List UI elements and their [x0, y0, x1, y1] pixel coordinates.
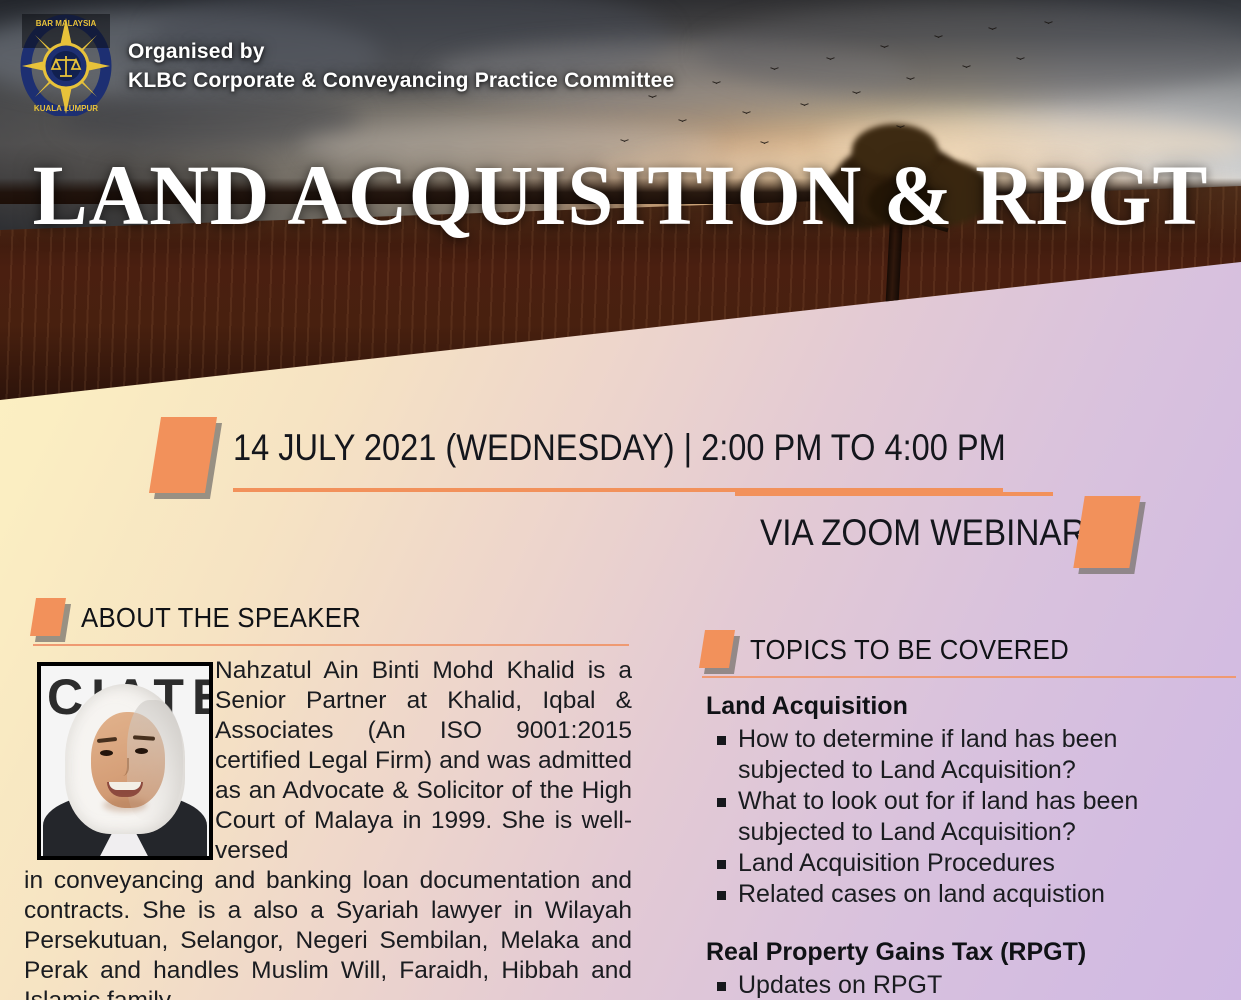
speaker-photo: CIATE: [37, 662, 213, 860]
topic-item-text: Related cases on land acquistion: [738, 880, 1105, 908]
organiser-line-1: Organised by: [128, 38, 674, 67]
list-item: Updates on RPGT: [706, 970, 1206, 1000]
bullet-icon: [717, 798, 726, 807]
event-platform-row: VIA ZOOM WEBINAR: [735, 492, 1155, 592]
topic-group: Land Acquisition How to determine if lan…: [706, 690, 1206, 910]
list-item: What to look out for if land has been su…: [706, 786, 1206, 848]
poster-root: BAR MALAYSIA KUALA LUMPUR Organised by K…: [0, 0, 1241, 1000]
topic-items: Updates on RPGT: [706, 970, 1206, 1000]
bullet-icon: [717, 982, 726, 991]
topics-heading-rule: [702, 676, 1236, 678]
speaker-heading: ABOUT THE SPEAKER: [81, 602, 361, 634]
list-item: Related cases on land acquistion: [706, 879, 1206, 910]
bullet-icon: [717, 736, 726, 745]
topic-item-text: Land Acquisition Procedures: [738, 849, 1055, 877]
speaker-heading-rule: [33, 644, 629, 646]
topics-list: Land Acquisition How to determine if lan…: [706, 690, 1206, 1000]
topics-section: TOPICS TO BE COVERED: [702, 628, 1202, 676]
accent-square: [1079, 496, 1135, 568]
accent-square: [702, 630, 732, 668]
topic-item-text: Updates on RPGT: [738, 971, 942, 999]
accent-square: [155, 417, 211, 493]
event-platform-text: VIA ZOOM WEBINAR: [760, 512, 1086, 554]
speaker-bio-top: Nahzatul Ain Binti Mohd Khalid is a Seni…: [215, 656, 632, 866]
bullet-icon: [717, 891, 726, 900]
topics-heading: TOPICS TO BE COVERED: [750, 634, 1069, 666]
topic-group-title: Land Acquisition: [706, 690, 1206, 722]
topic-items: How to determine if land has been subjec…: [706, 724, 1206, 910]
svg-text:BAR MALAYSIA: BAR MALAYSIA: [36, 19, 97, 28]
organiser-text: Organised by KLBC Corporate & Conveyanci…: [128, 38, 674, 96]
organiser-line-2: KLBC Corporate & Conveyancing Practice C…: [128, 67, 674, 96]
svg-text:KUALA LUMPUR: KUALA LUMPUR: [34, 104, 98, 113]
list-item: Land Acquisition Procedures: [706, 848, 1206, 879]
poster-title: LAND ACQUISITION & RPGT: [25, 152, 1216, 238]
event-date-text: 14 JULY 2021 (WEDNESDAY) | 2:00 PM TO 4:…: [233, 427, 1006, 469]
bar-malaysia-logo-icon: BAR MALAYSIA KUALA LUMPUR: [18, 12, 114, 116]
accent-square: [33, 598, 63, 636]
topic-group: Real Property Gains Tax (RPGT) Updates o…: [706, 936, 1206, 1000]
topic-item-text: What to look out for if land has been su…: [738, 787, 1138, 846]
bullet-icon: [717, 860, 726, 869]
speaker-bio-bottom: in conveyancing and banking loan documen…: [24, 866, 632, 1000]
hero-banner: BAR MALAYSIA KUALA LUMPUR Organised by K…: [0, 0, 1241, 400]
list-item: How to determine if land has been subjec…: [706, 724, 1206, 786]
topic-spacer: [706, 910, 1206, 936]
platform-overline: [735, 492, 1053, 496]
speaker-section: ABOUT THE SPEAKER: [33, 596, 633, 644]
topic-group-title: Real Property Gains Tax (RPGT): [706, 936, 1206, 968]
topic-item-text: How to determine if land has been subjec…: [738, 725, 1117, 784]
